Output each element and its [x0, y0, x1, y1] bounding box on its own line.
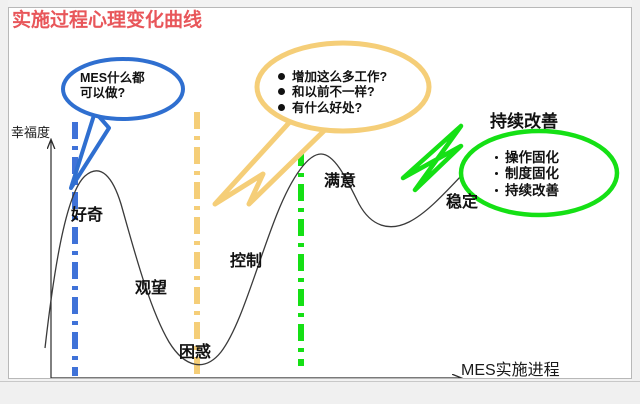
stage-curiosity: 好奇 [71, 201, 103, 225]
bubble-blue-text: MES什么都 可以做? [80, 71, 145, 102]
bubble-yellow-item-2: 和以前不一样? [278, 85, 387, 100]
bubble-yellow-text: 增加这么多工作? 和以前不一样? 有什么好处? [278, 70, 387, 116]
bullet-icon [495, 156, 498, 159]
bubble-yellow-item-1-label: 增加这么多工作? [292, 70, 387, 85]
bullet-icon [278, 73, 285, 80]
bubble-yellow-item-3-label: 有什么好处? [292, 101, 362, 116]
bubble-green-item-3-label: 持续改善 [505, 183, 559, 199]
bubble-green-item-1: 操作固化 [495, 150, 559, 166]
stage-stable: 稳定 [446, 188, 478, 212]
window-right-margin [632, 0, 640, 404]
bullet-icon [495, 172, 498, 175]
slide-canvas: 幸福度 MES实施进程 好奇 观望 困惑 控制 满意 稳定 持续改善 MES什么… [0, 0, 640, 404]
bubble-green-item-1-label: 操作固化 [505, 150, 559, 166]
bubble-green-item-2-label: 制度固化 [505, 166, 559, 182]
stage-satisfied: 满意 [324, 167, 356, 191]
y-axis-label: 幸福度 [11, 122, 50, 141]
x-axis-label: MES实施进程 [461, 356, 560, 379]
diagram-area: 幸福度 MES实施进程 好奇 观望 困惑 控制 满意 稳定 持续改善 MES什么… [8, 7, 632, 379]
page-title: 实施过程心理变化曲线 [12, 5, 202, 32]
bullet-icon [495, 189, 498, 192]
bullet-icon [278, 104, 285, 111]
bubble-green-item-2: 制度固化 [495, 166, 559, 182]
stage-continuous-improvement: 持续改善 [490, 107, 558, 132]
bubble-green-text: 操作固化 制度固化 持续改善 [495, 150, 559, 199]
stage-watching: 观望 [135, 274, 167, 298]
bubble-concerns[interactable] [215, 43, 429, 204]
window-left-margin [0, 0, 8, 404]
bubble-green-tail [403, 126, 461, 190]
bullet-icon [278, 88, 285, 95]
bubble-green-item-3: 持续改善 [495, 183, 559, 199]
bubble-yellow-item-3: 有什么好处? [278, 101, 387, 116]
window-bottom-margin [0, 381, 640, 404]
bubble-yellow-item-1: 增加这么多工作? [278, 70, 387, 85]
bubble-yellow-item-2-label: 和以前不一样? [292, 85, 375, 100]
bubble-blue-line-2: 可以做? [80, 86, 145, 101]
stage-confusion: 困惑 [179, 338, 211, 362]
bubble-blue-line-1: MES什么都 [80, 71, 145, 86]
stage-control: 控制 [230, 247, 262, 271]
